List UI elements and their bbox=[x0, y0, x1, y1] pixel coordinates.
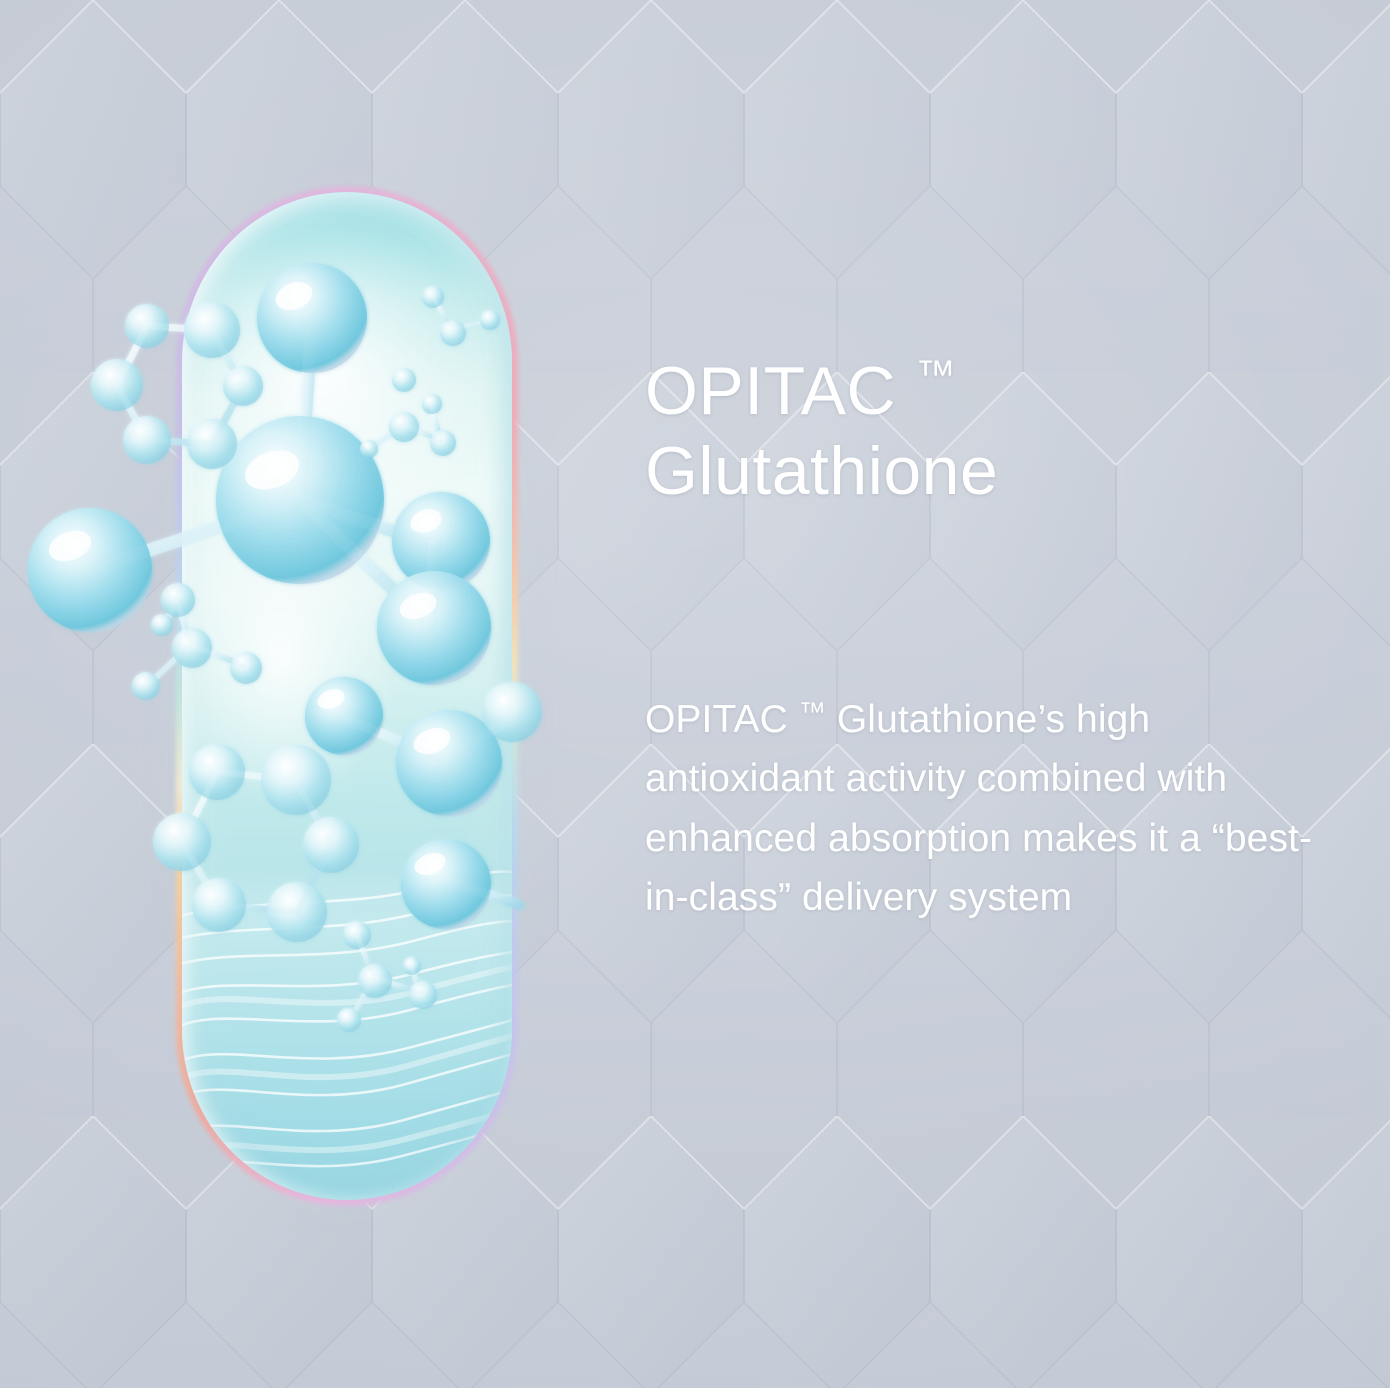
capsule-illustration bbox=[182, 192, 512, 1200]
water-ripples bbox=[182, 870, 512, 1200]
trademark-icon: ™ bbox=[799, 697, 826, 727]
capsule-body bbox=[182, 192, 512, 1200]
body-brand: OPITAC bbox=[645, 698, 799, 741]
trademark-icon: ™ bbox=[916, 353, 956, 397]
body-copy-block: OPITAC ™ Glutathione’s high antioxidant … bbox=[645, 690, 1325, 927]
promo-slide: OPITAC ™Glutathione OPITAC ™ Glutathione… bbox=[0, 0, 1390, 1388]
headline-product: Glutathione bbox=[645, 433, 998, 509]
page-title: OPITAC ™Glutathione bbox=[645, 352, 1325, 511]
headline-block: OPITAC ™Glutathione bbox=[645, 352, 1325, 511]
headline-brand: OPITAC bbox=[645, 353, 916, 429]
body-paragraph: OPITAC ™ Glutathione’s high antioxidant … bbox=[645, 690, 1325, 927]
